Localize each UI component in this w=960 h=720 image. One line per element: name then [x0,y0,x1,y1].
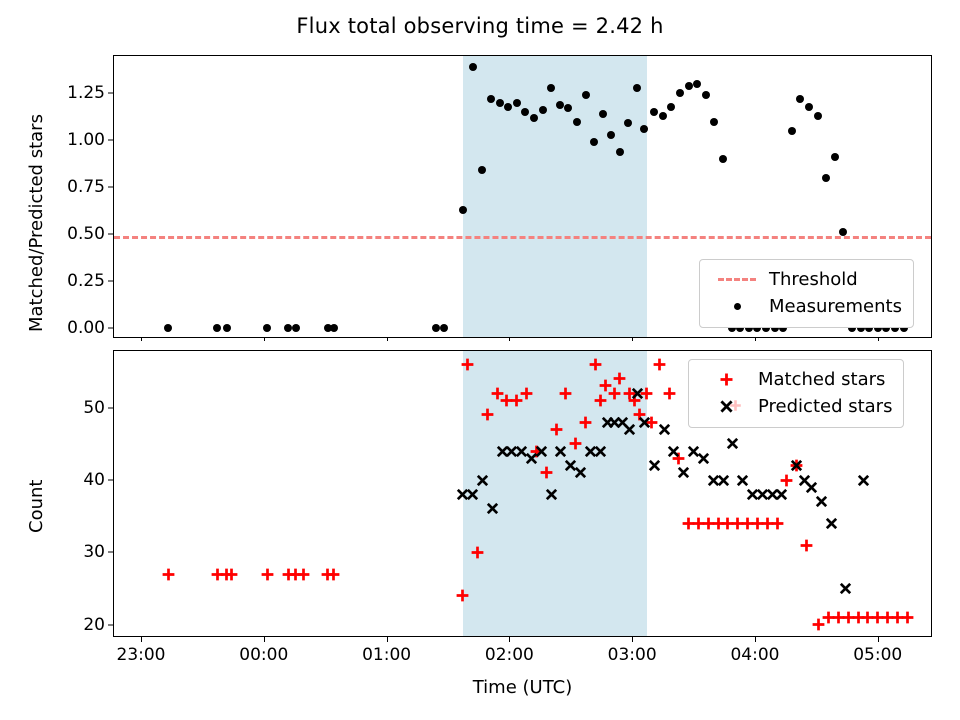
dot-key [711,303,763,310]
y-tick-label: 0.00 [67,318,114,338]
measurement-point [330,324,338,332]
measurement-point [213,324,221,332]
measurement-point [710,118,718,126]
legend-label-measurements: Measurements [763,296,902,317]
x-tick-mark [878,337,879,341]
matched-star-marker [225,568,238,581]
measurement-point [685,82,693,90]
x-tick-mark [509,337,510,341]
measurement-point [496,99,504,107]
page-title: Flux total observing time = 2.42 h [0,14,960,38]
matched-star-marker [780,474,793,487]
measurement-point [504,103,512,111]
measurement-point [573,118,581,126]
matched-star-marker [461,358,474,371]
measurement-point [805,103,813,111]
legend-label-predicted-stars: Predicted stars [752,396,892,417]
count-legend: Matched stars Predicted stars [688,359,904,428]
y-tick-mark [108,93,114,94]
x-tick-mark [264,337,265,341]
matched-star-marker [540,466,553,479]
x-tick-label: 02:00 [485,636,534,665]
legend-item-matched-stars: Matched stars [700,366,892,393]
predicted-star-marker [815,495,828,508]
predicted-star-marker [574,466,587,479]
measurement-point [539,106,547,114]
measurement-point [633,84,641,92]
predicted-star-marker [857,474,870,487]
measurement-point [667,103,675,111]
measurement-point [513,99,521,107]
predicted-star-marker [648,459,661,472]
predicted-star-marker [535,445,548,458]
matched-star-marker [471,546,484,559]
matched-star-marker [589,358,602,371]
x-tick-mark [755,337,756,341]
threshold-line [114,236,931,239]
legend-item-threshold: Threshold [711,266,902,293]
y-tick-mark [108,280,114,281]
count-y-axis-label: Count [26,480,47,533]
measurement-point [292,324,300,332]
measurement-point [440,324,448,332]
predicted-star-marker [717,474,730,487]
predicted-star-marker [466,488,479,501]
x-tick-mark [141,337,142,341]
predicted-star-marker [486,502,499,515]
measurement-point [822,174,830,182]
y-tick-label: 1.00 [67,130,114,150]
matched-star-marker [901,611,914,624]
predicted-star-marker [667,445,680,458]
predicted-star-marker [623,423,636,436]
measurement-point [459,206,467,214]
matched-star-marker [594,394,607,407]
y-tick-label: 1.25 [67,83,114,103]
predicted-star-marker [775,488,788,501]
x-tick-label: 05:00 [853,636,902,665]
matched-star-marker [456,589,469,602]
matched-star-marker [297,568,310,581]
measurement-point [469,63,477,71]
matched-star-marker [261,568,274,581]
figure-canvas: Flux total observing time = 2.42 h 0.000… [0,0,960,720]
y-tick-mark [108,480,114,481]
x-key [700,399,752,414]
x-tick-label: 00:00 [239,636,288,665]
ghost-plus-marker [729,397,742,416]
y-tick-label: 0.50 [67,224,114,244]
predicted-star-marker [631,387,644,400]
measurement-point [796,95,804,103]
ratio-legend: Threshold Measurements [699,259,914,328]
y-tick-label: 0.75 [67,177,114,197]
y-tick-mark [108,407,114,408]
matched-star-marker [569,437,582,450]
measurement-point [599,110,607,118]
measurement-point [719,155,727,163]
measurement-point [814,112,822,120]
y-tick-mark [108,552,114,553]
measurement-point [164,324,172,332]
matched-star-marker [663,387,676,400]
predicted-star-marker [638,416,651,429]
y-tick-mark [108,187,114,188]
measurement-point [487,95,495,103]
matched-star-marker [481,408,494,421]
measurement-point [676,89,684,97]
predicted-star-marker [805,481,818,494]
predicted-star-marker [839,582,852,595]
y-tick-mark [108,327,114,328]
x-tick-label: 03:00 [608,636,657,665]
predicted-star-marker [545,488,558,501]
measurement-point [659,112,667,120]
measurement-point [263,324,271,332]
matched-star-marker [800,539,813,552]
predicted-star-marker [476,474,489,487]
predicted-star-marker [697,452,710,465]
measurement-point [556,101,564,109]
predicted-star-marker [736,474,749,487]
dashed-line-key [711,278,763,281]
predicted-star-marker [825,517,838,530]
measurement-point [582,91,590,99]
y-tick-mark [108,624,114,625]
measurement-point [693,80,701,88]
matched-star-marker [520,387,533,400]
predicted-star-marker [594,445,607,458]
matched-star-marker [613,372,626,385]
measurement-point [547,84,555,92]
legend-label-matched-stars: Matched stars [752,369,885,390]
measurement-point [788,127,796,135]
x-tick-label: 01:00 [362,636,411,665]
predicted-star-marker [790,459,803,472]
matched-star-marker [771,517,784,530]
measurement-point [530,114,538,122]
matched-star-marker [608,387,621,400]
matched-star-marker [653,358,666,371]
predicted-star-marker [554,445,567,458]
matched-star-marker [559,387,572,400]
matched-star-marker [550,423,563,436]
x-tick-label: 04:00 [730,636,779,665]
matched-star-marker [162,568,175,581]
matched-star-marker [579,416,592,429]
ratio-y-axis-label: Matched/Predicted stars [26,114,47,332]
measurement-point [650,108,658,116]
legend-item-measurements: Measurements [711,293,902,320]
measurement-point [432,324,440,332]
measurement-point [607,131,615,139]
predicted-star-marker [658,423,671,436]
x-tick-label: 23:00 [117,636,166,665]
y-tick-mark [108,234,114,235]
x-axis-label: Time (UTC) [113,677,932,698]
legend-label-threshold: Threshold [763,269,858,290]
plus-key [700,372,752,387]
y-tick-mark [108,140,114,141]
predicted-star-marker [726,437,739,450]
measurement-point [831,153,839,161]
measurement-point [702,91,710,99]
measurement-point [616,148,624,156]
matched-star-marker [327,568,340,581]
measurement-point [640,125,648,133]
predicted-star-marker [677,466,690,479]
x-tick-mark [387,337,388,341]
y-tick-label: 0.25 [67,271,114,291]
measurement-point [223,324,231,332]
x-tick-mark [632,337,633,341]
